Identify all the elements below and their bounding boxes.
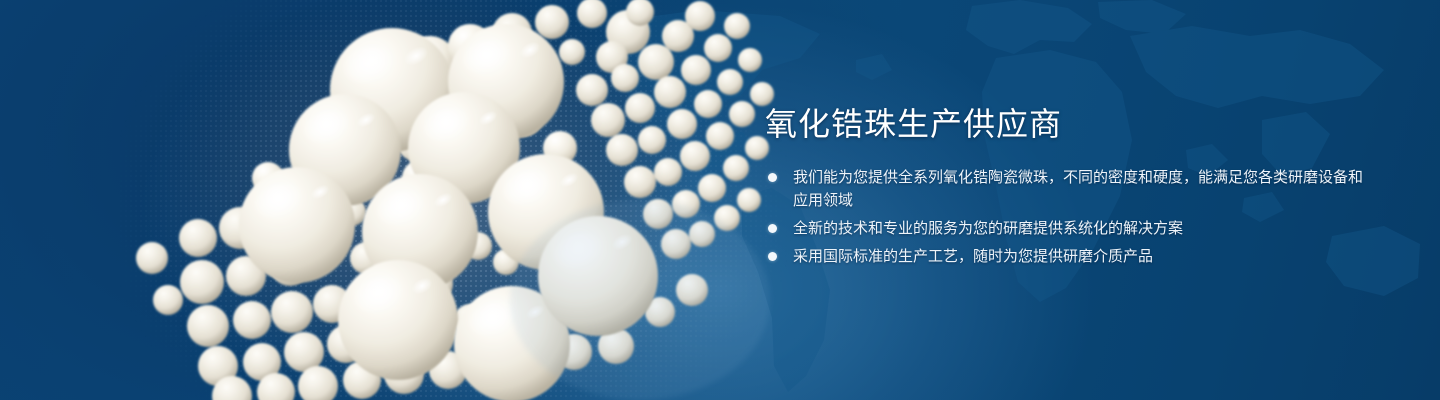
list-item: 我们能为您提供全系列氧化锆陶瓷微珠，不同的密度和硬度，能满足您各类研磨设备和应用…: [765, 166, 1365, 212]
list-item: 全新的技术和专业的服务为您的研磨提供系统化的解决方案: [765, 217, 1365, 240]
feature-list: 我们能为您提供全系列氧化锆陶瓷微珠，不同的密度和硬度，能满足您各类研磨设备和应用…: [765, 166, 1365, 268]
list-item-label: 全新的技术和专业的服务为您的研磨提供系统化的解决方案: [793, 217, 1365, 240]
list-item-label: 我们能为您提供全系列氧化锆陶瓷微珠，不同的密度和硬度，能满足您各类研磨设备和应用…: [793, 166, 1365, 212]
hero-banner: 氧化锆珠生产供应商 我们能为您提供全系列氧化锆陶瓷微珠，不同的密度和硬度，能满足…: [0, 0, 1440, 400]
bullet-dot-icon: [768, 252, 777, 261]
bullet-dot-icon: [768, 173, 777, 182]
list-item: 采用国际标准的生产工艺，随时为您提供研磨介质产品: [765, 245, 1365, 268]
page-title: 氧化锆珠生产供应商: [765, 104, 1365, 144]
bullet-dot-icon: [768, 224, 777, 233]
banner-content: 氧化锆珠生产供应商 我们能为您提供全系列氧化锆陶瓷微珠，不同的密度和硬度，能满足…: [765, 104, 1365, 268]
list-item-label: 采用国际标准的生产工艺，随时为您提供研磨介质产品: [793, 245, 1365, 268]
